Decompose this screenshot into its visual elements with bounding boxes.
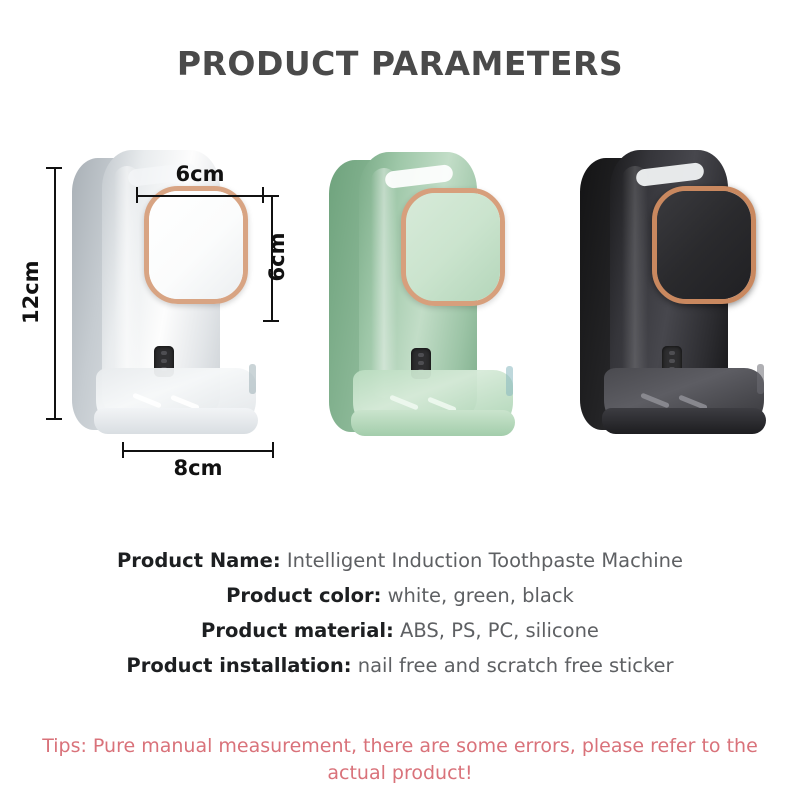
device-gloss-highlight [622, 166, 648, 396]
device-side-clip [249, 364, 256, 394]
spec-value: ABS, PS, PC, silicone [400, 619, 599, 642]
dimension-label-panel-width: 6cm [136, 162, 264, 186]
device-tray-lip [94, 408, 258, 434]
device-gloss-highlight [371, 168, 397, 398]
device-tray-lip [602, 408, 766, 434]
dimension-line-height [54, 167, 56, 420]
spec-row: Product installation: nail free and scra… [0, 648, 800, 683]
device-front-panel-face [406, 193, 500, 301]
dimension-line-panel-width [136, 195, 264, 197]
device-front-panel [144, 186, 248, 304]
dimension-cap [263, 320, 279, 322]
product-spec-list: Product Name: Intelligent Induction Toot… [0, 543, 800, 683]
spec-label: Product Name: [117, 549, 281, 572]
device-front-panel-face [149, 191, 243, 299]
dimension-label-height: 12cm [19, 266, 43, 324]
spec-row: Product color: white, green, black [0, 578, 800, 613]
device-front-panel [401, 188, 505, 306]
spec-label: Product color: [226, 584, 381, 607]
page-title: PRODUCT PARAMETERS [0, 44, 800, 83]
dimension-cap [263, 195, 279, 197]
device-front-panel [652, 186, 756, 304]
dimension-cap [46, 167, 62, 169]
tips-note: Tips: Pure manual measurement, there are… [30, 733, 770, 787]
device-front-panel-face [657, 191, 751, 299]
dimension-label-panel-height: 6cm [265, 228, 289, 286]
spec-label: Product installation: [126, 654, 351, 677]
spec-value: nail free and scratch free sticker [358, 654, 674, 677]
product-unit-green [327, 152, 527, 452]
dimension-cap [46, 418, 62, 420]
device-tray-lip [351, 410, 515, 436]
dimension-line-depth [122, 450, 274, 452]
dimension-label-depth: 8cm [122, 456, 274, 480]
spec-value: Intelligent Induction Toothpaste Machine [287, 549, 683, 572]
dimension-cap [136, 187, 138, 203]
spec-row: Product material: ABS, PS, PC, silicone [0, 613, 800, 648]
device-side-clip [757, 364, 764, 394]
product-showcase: 12cm 6cm 6cm 8cm [0, 140, 800, 500]
spec-row: Product Name: Intelligent Induction Toot… [0, 543, 800, 578]
spec-value: white, green, black [388, 584, 574, 607]
product-unit-black [578, 150, 778, 450]
device-side-clip [506, 366, 513, 396]
spec-label: Product material: [201, 619, 394, 642]
